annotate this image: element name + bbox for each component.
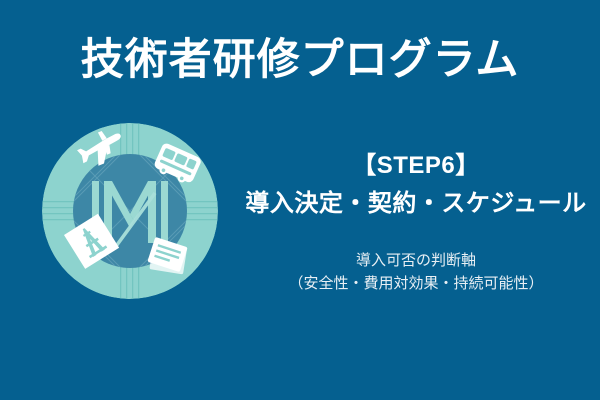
emblem-graphic <box>42 123 218 299</box>
subtitle-block: 導入可否の判断軸 （安全性・費用対効果・持続可能性） <box>240 249 592 296</box>
slide-canvas: 技術者研修プログラム <box>0 0 600 400</box>
step-label: 【STEP6】 <box>240 150 592 182</box>
subtitle-line-1: 導入可否の判断軸 <box>240 249 592 272</box>
page-title: 技術者研修プログラム <box>0 34 600 88</box>
content-block: 【STEP6】 導入決定・契約・スケジュール 導入可否の判断軸 （安全性・費用対… <box>240 150 592 295</box>
step-title: 導入決定・契約・スケジュール <box>240 188 592 220</box>
subtitle-line-2: （安全性・費用対効果・持続可能性） <box>240 272 592 295</box>
